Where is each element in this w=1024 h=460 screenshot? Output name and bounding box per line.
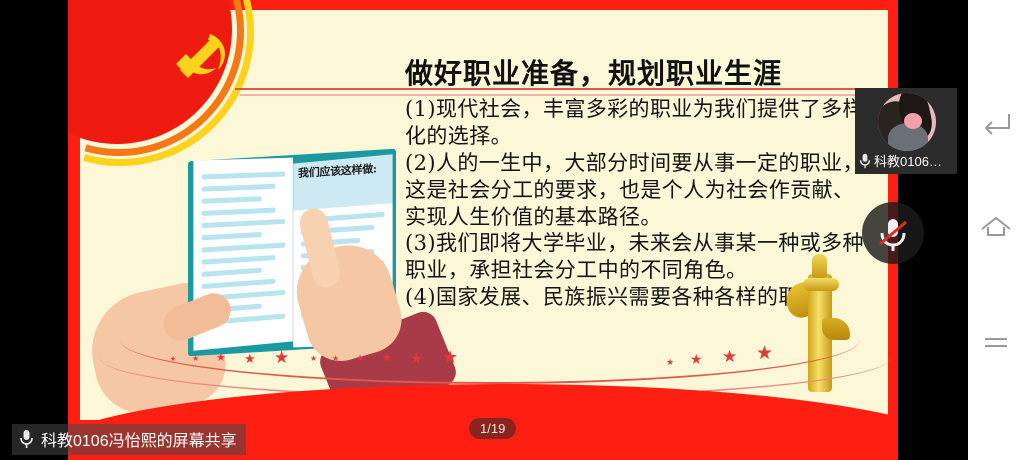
- slide-paragraph-1: (1)现代社会，丰富多彩的职业为我们提供了多样化的选择。: [405, 96, 870, 150]
- letterbox-left: [0, 0, 68, 460]
- avatar: [878, 93, 936, 151]
- screen-share-label: 科教0106冯怡熙的屏幕共享: [41, 427, 237, 451]
- microphone-icon: [859, 153, 871, 169]
- decorative-stars: ★ ★ ★ ★ ★ ★ ★ ★ ★ ★ ★ ★ ★ ★ ★: [170, 342, 810, 372]
- nav-back-button[interactable]: [968, 95, 1024, 151]
- android-navigation-bar: [968, 0, 1024, 460]
- slide-paragraph-2: (2)人的一生中，大部分时间要从事一定的职业，这是社会分工的要求，也是个人为社会…: [405, 150, 870, 231]
- back-arrow-icon: [981, 110, 1011, 136]
- pillar-cloud-right: [822, 318, 850, 340]
- slide-title: 做好职业准备，规划职业生涯: [405, 52, 870, 92]
- mute-toggle-button[interactable]: [862, 202, 924, 264]
- hammer-sickle-icon: [166, 24, 238, 86]
- participant-thumbnail[interactable]: 科教0106…: [855, 88, 957, 174]
- slide-paper: 我们应该这样做: 做好职业准备，规划职业生涯 (1)现代社会，丰富多彩的职业为我…: [80, 10, 888, 420]
- pillar-top-cap: [812, 254, 827, 278]
- participant-name-row: 科教0106…: [859, 151, 942, 170]
- pillar-ring: [803, 278, 839, 291]
- shared-slide[interactable]: 我们应该这样做: 做好职业准备，规划职业生涯 (1)现代社会，丰富多彩的职业为我…: [68, 0, 898, 460]
- nav-recents-button[interactable]: [968, 315, 1024, 371]
- participant-name-label: 科教0106…: [874, 151, 942, 170]
- microphone-icon: [19, 429, 34, 449]
- home-icon: [980, 215, 1012, 241]
- page-indicator: 1/19: [469, 418, 516, 439]
- recents-menu-icon: [982, 333, 1010, 353]
- nav-home-button[interactable]: [968, 200, 1024, 256]
- screen-share-viewer: 我们应该这样做: 做好职业准备，规划职业生涯 (1)现代社会，丰富多彩的职业为我…: [0, 0, 1024, 460]
- screen-share-status: 科教0106冯怡熙的屏幕共享: [12, 424, 246, 455]
- microphone-muted-icon: [862, 202, 924, 264]
